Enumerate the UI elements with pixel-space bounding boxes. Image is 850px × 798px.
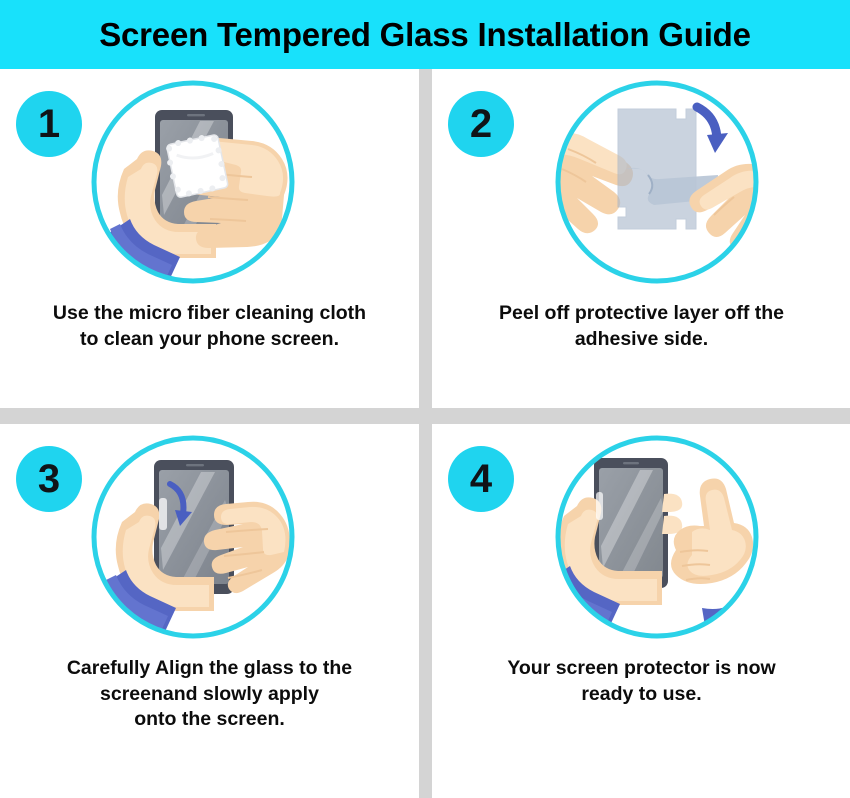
step-panel-2: 2 — [432, 69, 850, 408]
step-number-4: 4 — [470, 459, 492, 499]
caption-line: screenand slowly apply — [14, 682, 405, 708]
vertical-divider — [419, 69, 432, 798]
caption-line: to clean your phone screen. — [14, 327, 405, 353]
caption-line: Use the micro fiber cleaning cloth — [14, 301, 405, 327]
step-number-badge-1: 1 — [16, 91, 82, 157]
step-number-3: 3 — [38, 459, 60, 499]
caption-line: ready to use. — [446, 682, 837, 708]
caption-line: adhesive side. — [446, 327, 837, 353]
caption-line: onto the screen. — [14, 707, 405, 733]
step-number-1: 1 — [38, 104, 60, 144]
installation-guide-poster: Screen Tempered Glass Installation Guide… — [0, 0, 850, 798]
hand-holding-phone-thumbs-up-icon — [552, 432, 762, 642]
step-caption-3: Carefully Align the glass to the screena… — [0, 656, 419, 733]
step-number-badge-3: 3 — [16, 446, 82, 512]
step-caption-1: Use the micro fiber cleaning cloth to cl… — [0, 301, 419, 352]
hands-peeling-protective-film-icon — [552, 77, 762, 287]
caption-line: Peel off protective layer off the — [446, 301, 837, 327]
step-panel-1: 1 — [0, 69, 419, 408]
step-number-badge-2: 2 — [448, 91, 514, 157]
step-number-2: 2 — [470, 104, 492, 144]
step-caption-4: Your screen protector is now ready to us… — [432, 656, 850, 707]
caption-line: Your screen protector is now — [446, 656, 837, 682]
step-panel-4: 4 — [432, 424, 850, 798]
step-panel-3: 3 — [0, 424, 419, 798]
poster-header: Screen Tempered Glass Installation Guide — [0, 0, 850, 69]
hand-aligning-glass-on-phone-icon — [88, 432, 298, 642]
caption-line: Carefully Align the glass to the — [14, 656, 405, 682]
horizontal-divider — [0, 408, 850, 424]
step-number-badge-4: 4 — [448, 446, 514, 512]
step-caption-2: Peel off protective layer off the adhesi… — [432, 301, 850, 352]
page-title: Screen Tempered Glass Installation Guide — [99, 16, 751, 54]
hand-cleaning-phone-with-cloth-icon — [88, 77, 298, 287]
